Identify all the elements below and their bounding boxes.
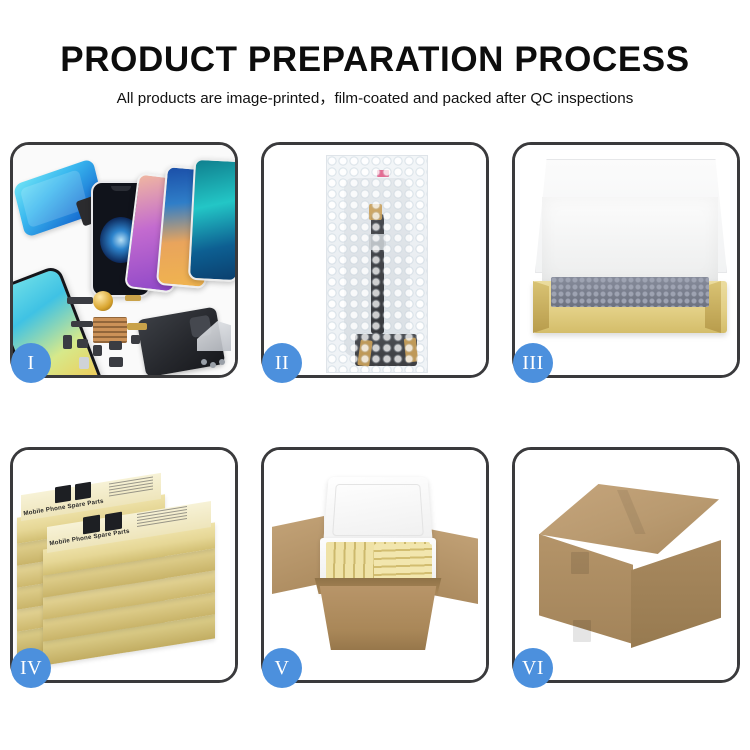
sealed-carton-scene — [515, 450, 737, 680]
pink-qc-sticker — [377, 170, 389, 177]
gold-contact — [404, 337, 418, 362]
header: PRODUCT PREPARATION PROCESS All products… — [0, 0, 750, 109]
phone-parts-scene — [13, 145, 235, 375]
step-badge-6: VI — [513, 648, 553, 688]
carton-tape-mark — [573, 620, 591, 642]
carton-body — [316, 586, 440, 650]
box-label-screen-image — [55, 485, 71, 504]
spare-part — [67, 297, 93, 304]
box-label-screen-image — [83, 515, 100, 535]
page-subtitle: All products are image-printed，film-coat… — [0, 80, 750, 109]
page-title: PRODUCT PREPARATION PROCESS — [0, 0, 750, 80]
step-4-image: Mobile Phone Spare Parts Mobile Phone Sp… — [13, 450, 235, 680]
lcd-driver-chip — [369, 234, 386, 250]
step-5-image — [264, 450, 486, 680]
step-2-image — [264, 145, 486, 375]
foam-box-lid — [323, 477, 433, 544]
spare-part — [71, 321, 93, 327]
step-badge-1: I — [11, 343, 51, 383]
spare-part — [109, 341, 122, 350]
spare-part — [79, 357, 89, 369]
product-preparation-infographic: PRODUCT PREPARATION PROCESS All products… — [0, 0, 750, 750]
steps-grid: I II — [10, 142, 740, 683]
phone-teal — [188, 158, 235, 282]
spare-part — [93, 345, 102, 356]
gold-contact — [369, 204, 382, 220]
spare-part — [77, 339, 88, 348]
box-label-screen-image — [75, 482, 91, 501]
screws-group — [201, 359, 225, 369]
white-foam-sheet — [542, 197, 718, 283]
step-1-image — [13, 145, 235, 375]
carton-packing-scene — [264, 450, 486, 680]
step-6-image — [515, 450, 737, 680]
spare-part — [63, 335, 72, 349]
spare-part — [109, 357, 123, 367]
spare-part — [125, 295, 141, 301]
step-badge-4: IV — [11, 648, 51, 688]
spare-part — [127, 323, 147, 330]
step-panel-3[interactable]: III — [512, 142, 740, 378]
step-badge-2: II — [262, 343, 302, 383]
step-3-image — [515, 145, 737, 375]
step-panel-4[interactable]: Mobile Phone Spare Parts Mobile Phone Sp… — [10, 447, 238, 683]
stacked-boxes-scene: Mobile Phone Spare Parts Mobile Phone Sp… — [13, 450, 235, 680]
spare-part — [131, 335, 140, 344]
step-panel-5[interactable]: V — [261, 447, 489, 683]
dark-foam-padding — [551, 277, 709, 307]
step-panel-1[interactable]: I — [10, 142, 238, 378]
step-panel-2[interactable]: II — [261, 142, 489, 378]
bubble-wrap-bag — [326, 155, 428, 373]
bubble-wrap-scene — [264, 145, 486, 375]
gold-coil-part — [93, 291, 113, 311]
kraft-box-side-left — [533, 281, 549, 333]
step-badge-3: III — [513, 343, 553, 383]
carton-tape-mark — [571, 552, 589, 574]
step-badge-5: V — [262, 648, 302, 688]
carton-right-face — [631, 540, 721, 648]
step-panel-6[interactable]: VI — [512, 447, 740, 683]
foam-box-scene — [515, 145, 737, 375]
connector-chip-grid — [93, 317, 127, 343]
lcd-flex-cable — [371, 214, 384, 334]
